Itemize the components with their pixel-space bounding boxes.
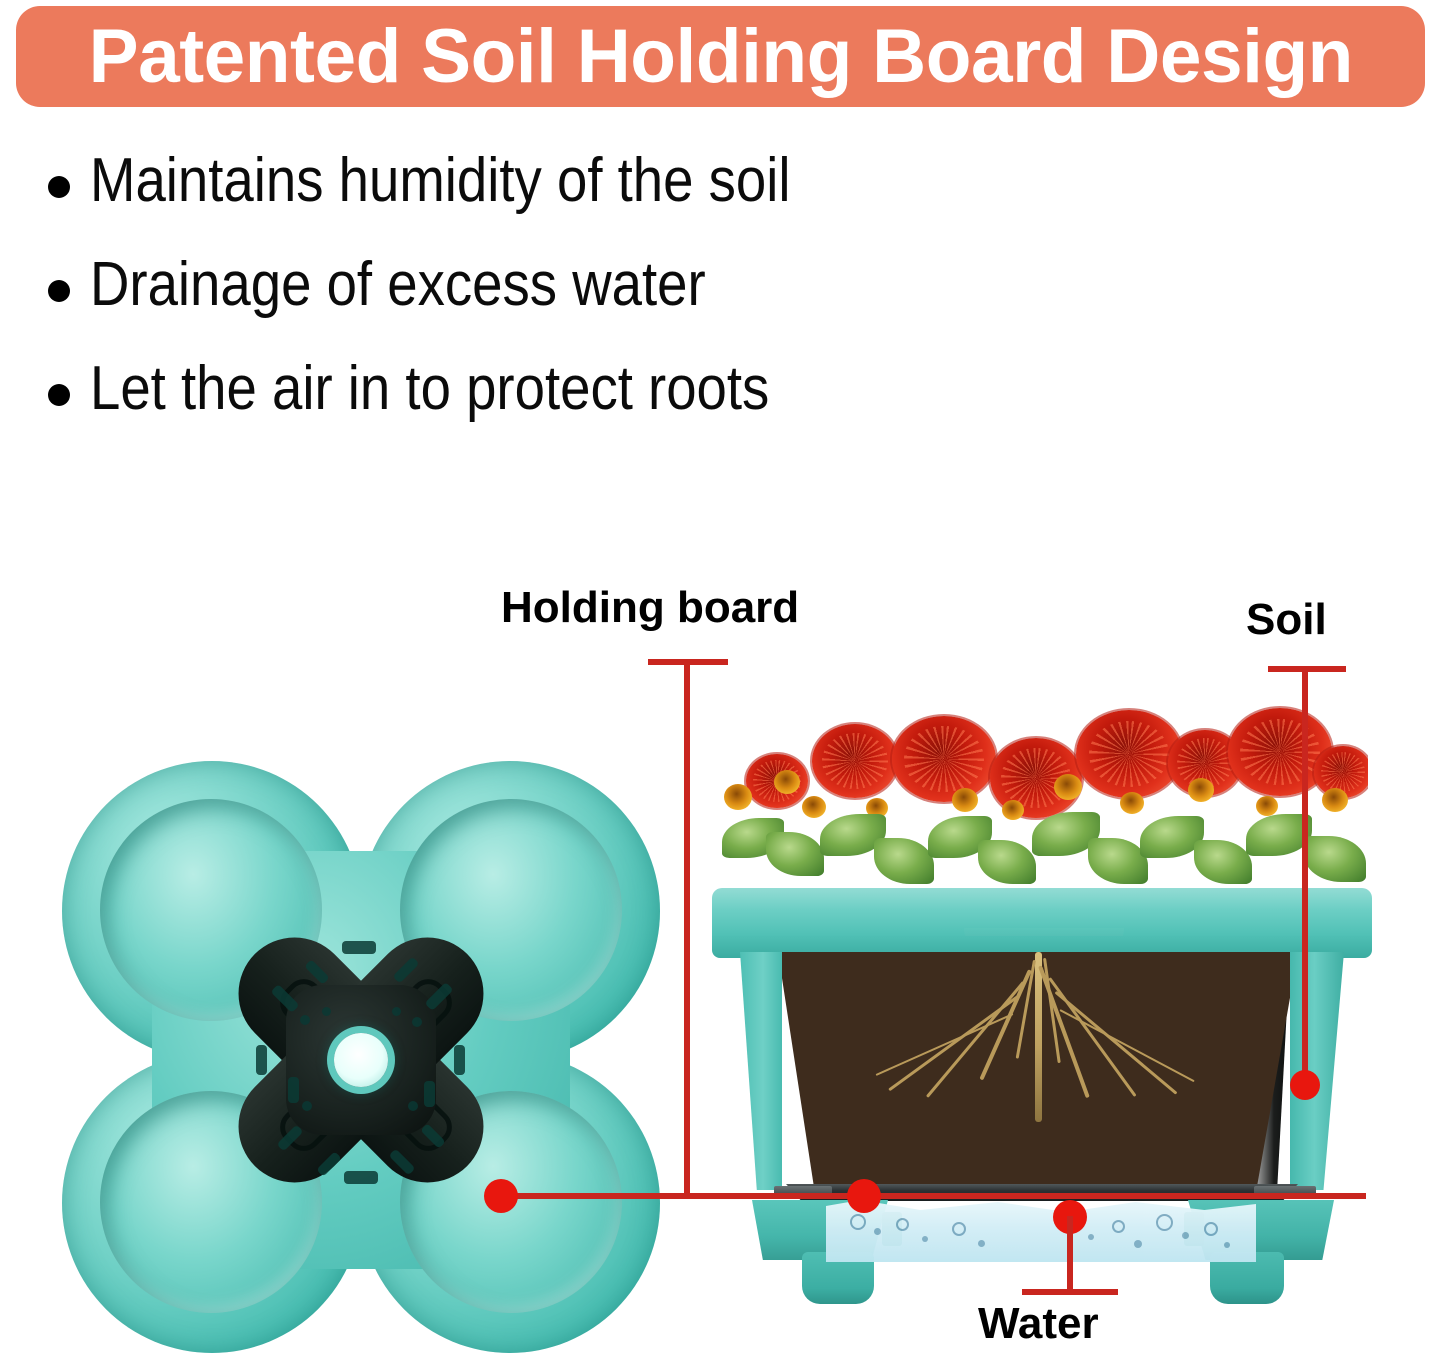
water-bubble: [896, 1218, 909, 1231]
soil-leader-vertical: [1302, 666, 1308, 1084]
holding-board-leader-horizontal: [498, 1193, 1366, 1199]
holding-board-top-view: [196, 895, 526, 1225]
drain-slot: [344, 1171, 378, 1184]
root: [1054, 991, 1177, 1095]
water-leader-tbar: [1022, 1289, 1118, 1295]
root: [888, 995, 1019, 1091]
feature-text: Let the air in to protect roots: [90, 356, 769, 421]
header-banner: Patented Soil Holding Board Design: [16, 6, 1425, 107]
water-bubble: [1112, 1220, 1125, 1233]
list-item: Let the air in to protect roots: [48, 356, 1148, 460]
water-bubble: [952, 1222, 966, 1236]
bullet-dot-icon: [48, 280, 70, 302]
water-bubble: [850, 1214, 866, 1230]
leaf: [766, 832, 824, 876]
leaf: [874, 838, 934, 884]
leaf: [1088, 838, 1148, 884]
water-leader-vertical: [1067, 1216, 1073, 1294]
page-title: Patented Soil Holding Board Design: [88, 19, 1352, 95]
list-item: Maintains humidity of the soil: [48, 148, 1148, 252]
orange-bud: [774, 770, 800, 794]
water-bubble: [922, 1236, 928, 1242]
callout-label-water: Water: [978, 1302, 1099, 1346]
aeration-hole: [300, 1015, 310, 1025]
pot-body: [740, 952, 1344, 1192]
callout-label-soil: Soil: [1246, 598, 1327, 642]
red-flower: [892, 716, 996, 802]
drain-slot: [256, 1045, 267, 1075]
soil-layer: [778, 952, 1298, 1190]
taproot: [1035, 952, 1042, 1122]
water-bubble: [1182, 1232, 1189, 1239]
red-flower: [812, 724, 898, 798]
holding-board-marker-left: [484, 1179, 518, 1213]
leaf: [1194, 840, 1252, 884]
green-foliage: [716, 792, 1368, 896]
aeration-hole: [408, 1101, 418, 1111]
feature-text: Maintains humidity of the soil: [90, 148, 791, 213]
feature-text: Drainage of excess water: [90, 252, 706, 317]
red-flower: [1076, 710, 1182, 798]
water-bubble: [1134, 1240, 1142, 1248]
list-item: Drainage of excess water: [48, 252, 1148, 356]
center-drainage-hole: [334, 1033, 388, 1087]
leaf: [978, 840, 1036, 884]
holding-board-marker-right: [847, 1179, 881, 1213]
bullet-dot-icon: [48, 384, 70, 406]
feature-list: Maintains humidity of the soil Drainage …: [48, 148, 1148, 460]
top-view-planter-image: [48, 755, 678, 1355]
aeration-hole: [322, 1007, 331, 1016]
drain-slot: [342, 941, 376, 954]
flower-cluster: [716, 700, 1368, 896]
water-bubble: [1204, 1222, 1218, 1236]
pot-cross-section-image: [712, 700, 1372, 1300]
aeration-hole: [302, 1101, 312, 1111]
drain-slot: [288, 1077, 299, 1103]
water-reservoir: [740, 1200, 1344, 1296]
water-bubble: [978, 1240, 985, 1247]
callout-label-holding-board: Holding board: [501, 586, 799, 630]
water-layer: [826, 1200, 1256, 1262]
water-bubble: [1224, 1242, 1230, 1248]
aeration-hole: [392, 1007, 401, 1016]
water-bubble: [1156, 1214, 1173, 1231]
leaf: [1304, 836, 1366, 882]
infographic-stage: Patented Soil Holding Board Design Maint…: [0, 0, 1438, 1369]
water-bubble: [874, 1228, 881, 1235]
bullet-dot-icon: [48, 176, 70, 198]
holding-board-leader-vertical: [684, 659, 690, 1199]
root: [876, 1013, 1014, 1076]
water-bubble: [1088, 1234, 1094, 1240]
drain-slot: [424, 1081, 435, 1107]
pot-wall-left: [740, 952, 782, 1190]
aeration-hole: [412, 1017, 422, 1027]
soil-marker: [1290, 1070, 1320, 1100]
drain-slot: [454, 1045, 465, 1075]
